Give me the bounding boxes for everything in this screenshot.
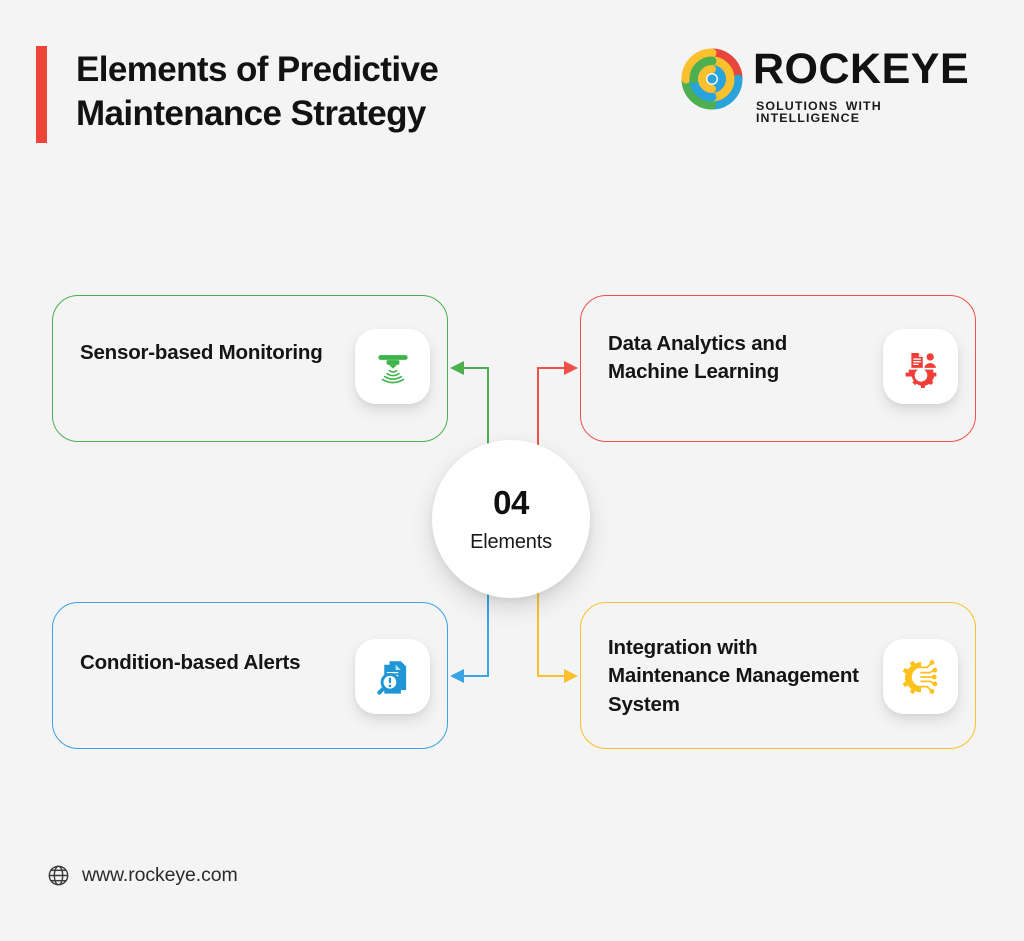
card-label: Sensor-based Monitoring	[80, 339, 345, 367]
card-condition-based-alerts[interactable]: Condition-based Alerts	[52, 602, 448, 749]
document-magnifier-alert-icon	[355, 639, 430, 714]
card-sensor-based-monitoring[interactable]: Sensor-based Monitoring	[52, 295, 448, 442]
card-label: Integration with Maintenance Management …	[608, 634, 873, 719]
globe-icon	[47, 864, 70, 887]
gear-circuit-icon	[883, 639, 958, 714]
card-label: Condition-based Alerts	[80, 649, 345, 677]
card-label: Data Analytics and Machine Learning	[608, 330, 873, 387]
connector-alerts	[452, 586, 488, 676]
connector-sensor	[452, 368, 488, 452]
center-count: 04	[493, 486, 529, 519]
footer: www.rockeye.com	[47, 864, 238, 887]
card-data-analytics-machine-learning[interactable]: Data Analytics and Machine Learning	[580, 295, 976, 442]
card-integration-maintenance-management-system[interactable]: Integration with Maintenance Management …	[580, 602, 976, 749]
connector-integration	[538, 586, 576, 676]
center-node: 04 Elements	[432, 440, 590, 598]
document-person-gear-icon	[883, 329, 958, 404]
sensor-waves-icon	[355, 329, 430, 404]
connector-ml	[538, 368, 576, 452]
infographic-canvas: Elements of Predictive Maintenance Strat…	[0, 0, 1024, 941]
center-caption: Elements	[470, 532, 552, 552]
footer-url[interactable]: www.rockeye.com	[82, 864, 238, 887]
